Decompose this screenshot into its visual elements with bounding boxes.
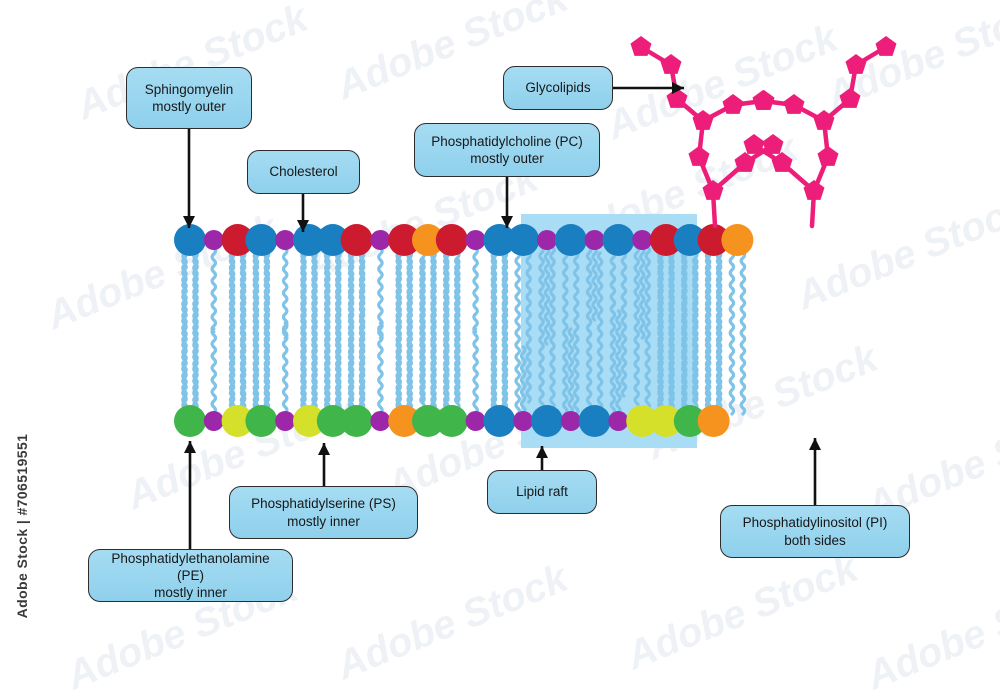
lipid-tail	[730, 252, 733, 414]
callout-text: Sphingomyelinmostly outer	[145, 81, 234, 116]
figure-canvas: Adobe StockAdobe StockAdobe StockAdobe S…	[0, 0, 1000, 667]
callout-text: Glycolipids	[525, 79, 590, 96]
outer-head-blue[interactable]	[245, 224, 277, 256]
callout-line2: mostly outer	[145, 98, 234, 115]
callout-line2: mostly inner	[98, 584, 283, 601]
inner-head-purple[interactable]	[466, 411, 486, 431]
arrow-phosphatidylcholine	[501, 177, 513, 228]
lipid-tail	[432, 253, 435, 409]
arrow-phosphatidylinositol	[809, 438, 821, 505]
outer-head-blue[interactable]	[174, 224, 206, 256]
outer-head-orange[interactable]	[721, 224, 753, 256]
callout-line1: Phosphatidylserine (PS)	[251, 495, 396, 512]
cholesterol-tail	[212, 248, 215, 332]
callout-line2: mostly inner	[251, 513, 396, 530]
inner-head-blue[interactable]	[483, 405, 515, 437]
outer-head-purple[interactable]	[537, 230, 557, 250]
outer-head-purple[interactable]	[632, 230, 652, 250]
callout-glycolipids[interactable]: Glycolipids	[503, 66, 613, 110]
arrow-phosphatidylethanolamine	[184, 441, 196, 549]
arrow-sphingomyelin	[183, 129, 195, 228]
outer-head-blue[interactable]	[555, 224, 587, 256]
callout-sphingomyelin[interactable]: Sphingomyelinmostly outer	[126, 67, 252, 129]
lipid-tail	[397, 253, 400, 409]
cholesterol-tail	[569, 329, 572, 413]
lipid-tail	[360, 253, 363, 409]
glycolipid-left[interactable]	[631, 36, 784, 226]
arrow-phosphatidylserine	[318, 443, 330, 486]
inner-head-purple[interactable]	[513, 411, 533, 431]
inner-head-orange[interactable]	[698, 405, 730, 437]
inner-head-purple[interactable]	[275, 411, 295, 431]
cholesterol-tail	[212, 329, 215, 413]
callout-line1: Phosphatidylethanolamine (PE)	[98, 550, 283, 585]
callout-phosphatidylcholine[interactable]: Phosphatidylcholine (PC)mostly outer	[414, 123, 600, 177]
glycolipid-right[interactable]	[744, 36, 897, 226]
sugar-pentagon	[744, 134, 765, 154]
callout-text: Phosphatidylserine (PS)mostly inner	[251, 495, 396, 530]
outer-head-purple[interactable]	[275, 230, 295, 250]
inner-head-green[interactable]	[174, 405, 206, 437]
callout-phosphatidylinositol[interactable]: Phosphatidylinositol (PI)both sides	[720, 505, 910, 558]
callout-text: Phosphatidylethanolamine (PE)mostly inne…	[98, 550, 283, 602]
callout-line1: Phosphatidylcholine (PC)	[431, 133, 583, 150]
callout-line1: Cholesterol	[269, 163, 337, 180]
arrow-head	[184, 441, 196, 453]
lipid-tail	[741, 252, 744, 414]
sugar-pentagon	[876, 36, 897, 56]
cholesterol-tail	[474, 329, 477, 413]
callout-line2: mostly outer	[431, 150, 583, 167]
inner-head-purple[interactable]	[561, 411, 581, 431]
outer-head-blue[interactable]	[602, 224, 634, 256]
lipid-tail	[349, 253, 352, 409]
inner-head-green[interactable]	[341, 405, 373, 437]
lipid-tail	[598, 253, 601, 409]
callout-line1: Lipid raft	[516, 483, 568, 500]
outer-head-purple[interactable]	[204, 230, 224, 250]
inner-head-purple[interactable]	[370, 411, 390, 431]
callout-cholesterol[interactable]: Cholesterol	[247, 150, 360, 194]
inner-head-green[interactable]	[245, 405, 277, 437]
outer-head-red[interactable]	[341, 224, 373, 256]
inner-head-green[interactable]	[436, 405, 468, 437]
inner-head-blue[interactable]	[531, 405, 563, 437]
outer-head-purple[interactable]	[585, 230, 605, 250]
callout-text: Lipid raft	[516, 483, 568, 500]
arrow-head	[318, 443, 330, 455]
callout-text: Phosphatidylinositol (PI)both sides	[743, 514, 888, 549]
lipid-tail	[516, 252, 519, 426]
outer-head-purple[interactable]	[370, 230, 390, 250]
lipid-tail	[326, 253, 329, 409]
arrow-head	[809, 438, 821, 450]
callout-line2: both sides	[743, 532, 888, 549]
cholesterol-tail	[379, 323, 382, 413]
outer-head-purple[interactable]	[466, 230, 486, 250]
outer-head-blue[interactable]	[507, 224, 539, 256]
lipid-tail	[194, 253, 197, 409]
callout-text: Phosphatidylcholine (PC)mostly outer	[431, 133, 583, 168]
watermark-text: Adobe Stock | #706519551	[14, 401, 30, 651]
callout-line1: Sphingomyelin	[145, 81, 234, 98]
arrow-glycolipids	[613, 82, 684, 94]
callout-line1: Glycolipids	[525, 79, 590, 96]
cholesterol-tail	[284, 323, 287, 413]
sugar-pentagon	[631, 36, 652, 56]
sugar-pentagon	[754, 90, 775, 110]
cholesterol-tail	[474, 248, 477, 332]
callout-text: Cholesterol	[269, 163, 337, 180]
outer-head-red[interactable]	[436, 224, 468, 256]
lipid-tail	[670, 253, 673, 409]
callout-lipid-raft[interactable]: Lipid raft	[487, 470, 597, 514]
inner-head-purple[interactable]	[204, 411, 224, 431]
callout-phosphatidylserine[interactable]: Phosphatidylserine (PS)mostly inner	[229, 486, 418, 539]
callout-line1: Phosphatidylinositol (PI)	[743, 514, 888, 531]
arrow-lipid-raft	[536, 446, 548, 470]
inner-head-blue[interactable]	[579, 405, 611, 437]
tails-layer	[183, 229, 745, 432]
inner-head-purple[interactable]	[608, 411, 628, 431]
callout-phosphatidylethanolamine[interactable]: Phosphatidylethanolamine (PE)mostly inne…	[88, 549, 293, 602]
